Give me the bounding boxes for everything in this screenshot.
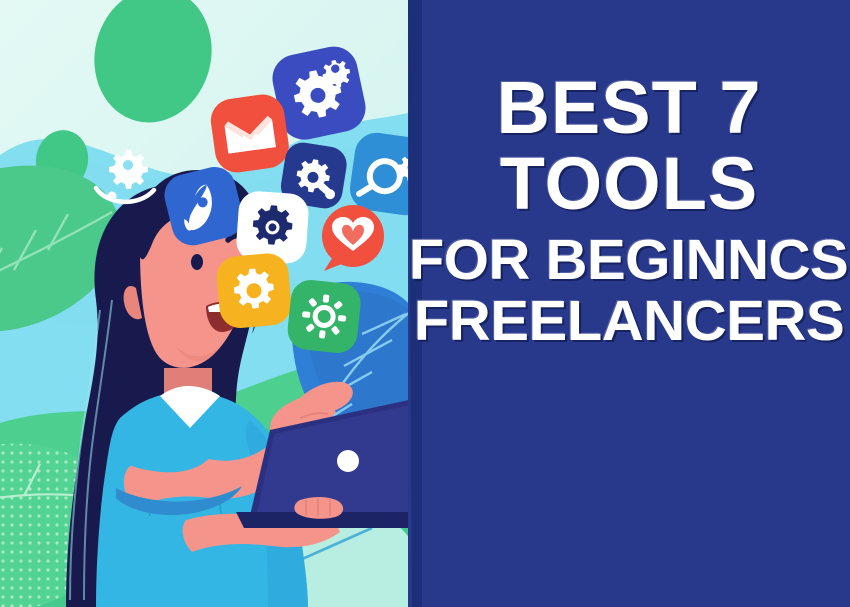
title-line-2: TOOLS [500,150,759,218]
title-line-1: BEST 7 [496,74,761,142]
thumbnail-poster: BEST 7 TOOLS FOR BEGINNCS FREELANCERS [0,0,850,607]
envelope-icon-red [208,92,292,176]
laptop-logo [337,450,359,472]
illustration-panel [0,0,418,607]
gear-icon-green [286,278,363,355]
title-line-3: FOR BEGINNCS [409,234,849,286]
eye-left [191,254,203,270]
title-line-4: FREELANCERS [414,295,844,347]
gear-icon-white [235,190,310,265]
title-block: BEST 7 TOOLS FOR BEGINNCS FREELANCERS [408,0,850,607]
gear-icon-yellow [215,252,293,330]
title-panel: BEST 7 TOOLS FOR BEGINNCS FREELANCERS [408,0,850,607]
